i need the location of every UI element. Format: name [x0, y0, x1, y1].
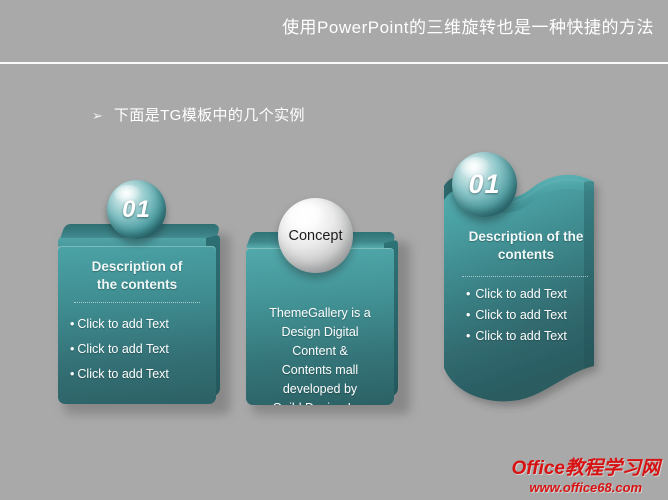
header-divider [0, 62, 668, 64]
list-item[interactable]: Click to add Text [466, 284, 608, 305]
card-wave-banner[interactable]: Description of the contents Click to add… [438, 152, 618, 414]
card-cube-concept[interactable]: ThemeGallery is a Design Digital Content… [246, 232, 406, 410]
page-title: 使用PowerPoint的三维旋转也是一种快捷的方法 [282, 13, 654, 38]
list-item[interactable]: Click to add Text [466, 305, 608, 326]
card-cube-one[interactable]: Description of the contents Click to add… [58, 224, 226, 410]
watermark-url: www.office68.com [511, 481, 660, 494]
list-item[interactable]: Click to add Text [466, 326, 608, 347]
card-heading-line-1: Description of [58, 258, 216, 276]
presentation-slide: 使用PowerPoint的三维旋转也是一种快捷的方法 ➢ 下面是TG模板中的几个… [0, 0, 668, 500]
list-item[interactable]: Click to add Text [70, 362, 208, 387]
number-sphere-badge: 01 [107, 180, 166, 239]
watermark-site-name: Office教程学习网 [511, 459, 660, 478]
sphere-number-label: 01 [107, 180, 166, 239]
card-body-text: ThemeGallery is a Design Digital Content… [254, 304, 386, 405]
sphere-concept-label: Concept [278, 198, 353, 273]
card-heading: Description of the contents [58, 258, 216, 294]
number-sphere-badge: 01 [452, 152, 517, 217]
card-bullet-list: Click to add Text Click to add Text Clic… [70, 312, 208, 387]
card-separator [74, 302, 200, 303]
sphere-number-label: 01 [452, 152, 517, 217]
body-line: Guild Design Inc. [254, 399, 386, 405]
body-line: Design Digital [254, 323, 386, 342]
cube-front-face: Description of the contents Click to add… [58, 246, 216, 404]
subtitle: ➢ 下面是TG模板中的几个实例 [92, 104, 305, 125]
body-line: developed by [254, 380, 386, 399]
slide-header: 使用PowerPoint的三维旋转也是一种快捷的方法 [0, 0, 668, 63]
concept-sphere-badge: Concept [278, 198, 353, 273]
watermark-logo: Office教程学习网 www.office68.com [511, 459, 660, 494]
card-heading-line-1: Description of the [448, 228, 604, 246]
body-line: Contents mall [254, 361, 386, 380]
card-bullet-list: Click to add Text Click to add Text Clic… [466, 284, 608, 347]
card-heading-line-2: the contents [58, 276, 216, 294]
list-item[interactable]: Click to add Text [70, 337, 208, 362]
card-separator [462, 276, 588, 277]
card-heading: Description of the contents [448, 228, 604, 264]
body-line: ThemeGallery is a [254, 304, 386, 323]
card-heading-line-2: contents [448, 246, 604, 264]
arrow-bullet-icon: ➢ [92, 109, 103, 122]
list-item[interactable]: Click to add Text [70, 312, 208, 337]
subtitle-label: 下面是TG模板中的几个实例 [114, 104, 305, 125]
body-line: Content & [254, 342, 386, 361]
